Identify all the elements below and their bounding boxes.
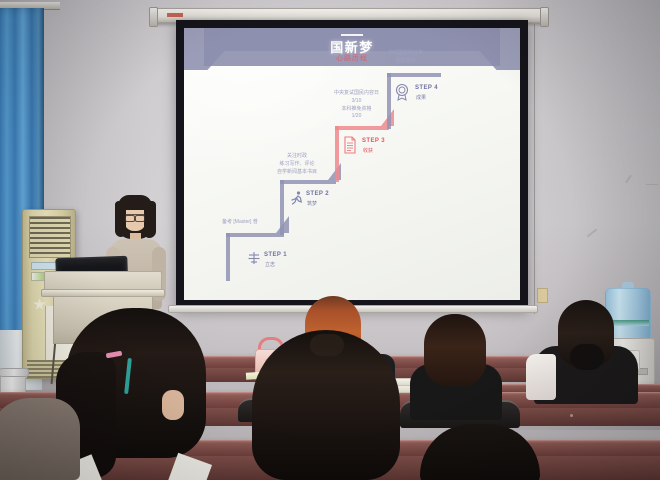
- wall-scuff-3: [646, 184, 658, 185]
- student-jacket: [0, 398, 80, 480]
- step4-note-text: 中共国务院社学 录取通知: [388, 50, 423, 64]
- lectern-lip: [41, 289, 165, 297]
- runner-icon: [288, 190, 304, 206]
- step1-note: 备考 [Master] 普: [222, 219, 258, 227]
- student-long-hair-center: [252, 330, 400, 480]
- projected-slide: 国新梦 心路历程 STEP 1 立志 备考 [M: [184, 28, 520, 300]
- step3-tread: [335, 126, 389, 130]
- step1-label: STEP 1: [264, 252, 287, 258]
- step2-tread: [280, 180, 336, 184]
- housing-end-right: [540, 7, 549, 27]
- document-icon: [342, 136, 358, 154]
- step3-label: STEP 3: [362, 138, 385, 144]
- step3-riser: [335, 126, 339, 182]
- housing-brand-mark: [167, 13, 183, 17]
- desk-screw: [570, 414, 573, 417]
- student-hair: [424, 314, 486, 386]
- title-rule: [341, 34, 363, 36]
- student-hair-part: [310, 334, 344, 356]
- waste-bin-lid: [0, 368, 29, 377]
- slide-subtitle: 心路历程: [184, 53, 520, 63]
- step4-note: 中共国务院社学 录取通知: [388, 50, 423, 66]
- presenter-hair-right: [144, 201, 156, 238]
- step3-note-text: 中央复试国民内容日 3/10 本科推免资格 1/20: [334, 90, 379, 119]
- student-lace-sleeve: [526, 354, 556, 400]
- step4-riser: [387, 73, 391, 129]
- step1-riser: [226, 233, 230, 281]
- student-foreground-left: [66, 308, 206, 480]
- step1-tread: [226, 233, 284, 237]
- step4-cn: 成果: [416, 94, 426, 101]
- seal-icon: [394, 83, 410, 101]
- step2-note: 关注时政 练习写作、评论 自学新闻基本书目: [277, 153, 317, 176]
- step3-cn: 收获: [363, 147, 373, 154]
- student-foreground-far-left: [0, 398, 80, 480]
- screen-cord-clip: [537, 288, 548, 303]
- slide-header-band: 国新梦 心路历程: [184, 28, 520, 74]
- student-ear: [162, 390, 184, 420]
- step2-label: STEP 2: [306, 191, 329, 197]
- signpost-icon: [246, 250, 262, 266]
- step4-label: STEP 4: [415, 85, 438, 91]
- ac-vent-grille: [29, 216, 71, 258]
- projection-screen: 国新梦 心路历程 STEP 1 立志 备考 [M: [176, 20, 528, 308]
- housing-end-left: [149, 7, 158, 27]
- presenter-glasses: [125, 214, 145, 221]
- step3-note: 中央复试国民内容日 3/10 本科推免资格 1/20: [334, 90, 379, 121]
- student-hair-bun: [570, 344, 604, 370]
- step2-riser: [280, 180, 284, 235]
- student-foreground-right: [420, 424, 540, 480]
- screen-pull-cord[interactable]: [534, 24, 535, 314]
- step4-tread: [387, 73, 441, 77]
- student-vest-right: [556, 300, 614, 400]
- step1-cn: 立志: [265, 261, 275, 268]
- student-back-right: [424, 314, 486, 406]
- classroom-scene: 国新梦 心路历程 STEP 1 立志 备考 [M: [0, 0, 660, 480]
- step2-note-text: 关注时政 练习写作、评论 自学新闻基本书目: [277, 153, 317, 175]
- step2-cn: 筑梦: [307, 200, 317, 207]
- student-hair: [420, 424, 540, 480]
